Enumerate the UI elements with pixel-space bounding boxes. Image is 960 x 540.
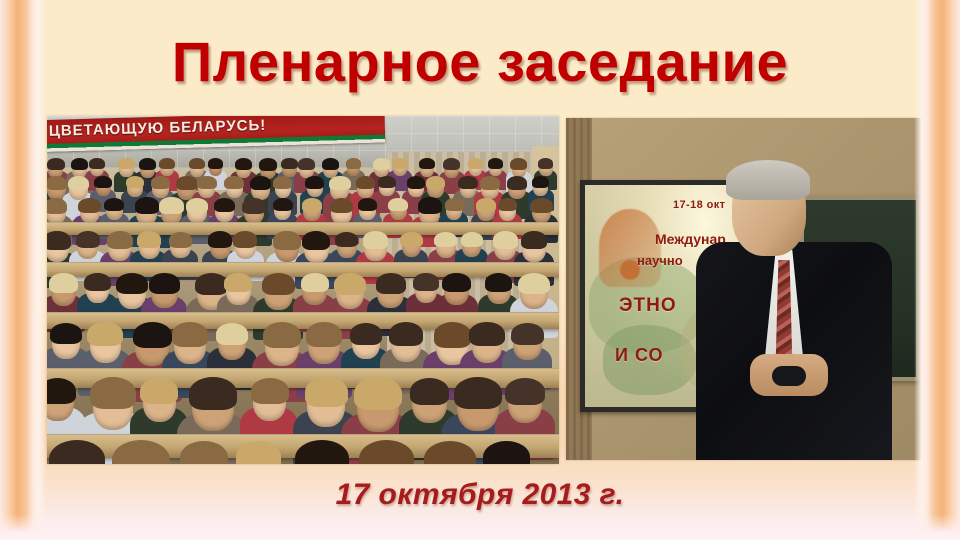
page-title: Пленарное заседание	[172, 34, 788, 90]
audience-person-hair	[224, 176, 243, 189]
audience-person-hair	[480, 176, 500, 190]
audience-person-hair	[208, 158, 223, 168]
audience-person-hair	[358, 198, 377, 211]
audience-person-hair	[250, 176, 272, 191]
audience-person-hair	[305, 377, 348, 406]
audience-person-hair	[172, 322, 209, 347]
audience-person-hair	[530, 198, 552, 213]
audience-person-hair	[521, 231, 548, 249]
audience-person-hair	[356, 176, 376, 189]
audience-person-hair	[47, 198, 67, 214]
audience-person-hair	[87, 322, 122, 346]
audience-person-hair	[47, 176, 67, 191]
audience-person-hair	[149, 273, 180, 294]
audience-person-hair	[335, 232, 358, 248]
audience-person-hair	[410, 378, 450, 405]
audience-person-hair	[373, 158, 390, 169]
audience-person-hair	[329, 176, 351, 191]
projection-line-3: ЭТНО	[619, 295, 677, 317]
audience-person-hair	[50, 323, 82, 345]
audience-person-hair	[126, 176, 144, 188]
audience-person-hair	[135, 197, 159, 213]
audience-person-hair	[47, 378, 76, 404]
audience-person-hair	[511, 323, 544, 345]
audience-person-hair	[407, 176, 425, 188]
audience-person-hair	[90, 377, 136, 409]
audience-person-hair	[159, 158, 175, 169]
audience-person-hair	[169, 232, 193, 248]
audience-person-hair	[376, 273, 407, 294]
audience-person-hair	[159, 197, 183, 214]
audience-person-hair	[363, 231, 389, 249]
audience-person-hair	[346, 158, 361, 168]
audience-person-hair	[186, 198, 208, 213]
audience-person-hair	[483, 441, 529, 464]
audience-person-hair	[273, 198, 293, 212]
audience-person-hair	[298, 158, 315, 170]
audience-person-hair	[305, 176, 323, 189]
projection-line-4: И СО	[615, 345, 664, 366]
audience-person-hair	[334, 273, 366, 295]
audience-person-hair	[350, 323, 382, 345]
audience-person-hair	[273, 231, 300, 250]
audience-person-hair	[89, 158, 105, 169]
audience-person-hair	[295, 440, 348, 464]
audience-person-hair	[78, 198, 101, 214]
audience-person-hair	[84, 273, 110, 291]
audience-person-hair	[505, 378, 545, 405]
audience-person-hair	[262, 273, 295, 295]
audience-person-hair	[94, 176, 111, 188]
audience-person-hair	[116, 273, 148, 295]
audience-person-hair	[49, 273, 78, 293]
audience-person-hair	[224, 273, 252, 292]
audience-person-hair	[485, 273, 512, 292]
audience-person-hair	[458, 176, 477, 189]
audience-person-hair	[330, 198, 353, 214]
date-area: 17 октября 2013 г.	[0, 472, 960, 518]
audience-person-hair	[493, 231, 518, 248]
audience-person-hair	[216, 323, 249, 345]
audience-person-hair	[104, 198, 124, 212]
audience-person-hair	[445, 198, 464, 211]
conference-emblem	[599, 209, 661, 287]
audience-person-hair	[176, 176, 197, 191]
audience-person-hair	[306, 322, 343, 347]
audience-person-hair	[378, 176, 396, 188]
audience-person-hair	[434, 322, 472, 348]
audience-person-hair	[235, 158, 252, 170]
audience-person-hair	[151, 176, 170, 189]
audience-person-hair	[137, 231, 161, 248]
audience-person-hair	[68, 176, 89, 191]
audience-person-hair	[273, 176, 292, 189]
speaker-hands	[750, 354, 828, 396]
audience-person-hair	[140, 378, 178, 404]
audience-person-hair	[47, 231, 71, 250]
photo-lecture-hall-audience: ЦВЕТАЮЩУЮ БЕЛАРУСЬ!	[47, 116, 559, 464]
audience-person-hair	[392, 158, 408, 169]
title-area: Пленарное заседание	[0, 26, 960, 98]
audience-person-hair	[469, 322, 504, 346]
audience-person-hair	[208, 231, 232, 247]
audience-person-hair	[454, 377, 501, 409]
audience-person-hair	[476, 198, 496, 212]
projection-line-2: научно	[637, 253, 683, 268]
audience-person-hair	[434, 232, 457, 248]
audience-person-hair	[76, 231, 100, 247]
audience-person-hair	[413, 273, 439, 291]
audience-person-hair	[400, 232, 422, 247]
audience-person-hair	[354, 377, 402, 410]
audience-person-hair	[461, 232, 483, 247]
audience-person-hair	[538, 158, 553, 168]
audience-person-hair	[442, 273, 470, 292]
audience-person-hair	[197, 176, 217, 189]
audience-person-hair	[189, 158, 205, 169]
audience-person-hair	[118, 158, 134, 169]
audience-person-hair	[139, 158, 156, 170]
audience-person-hair	[107, 231, 133, 249]
audience-person-hair	[498, 198, 518, 212]
audience-person-hair	[418, 197, 442, 213]
photo-conference-speaker: 17-18 окт Междунар научно ЭТНО И СО	[566, 118, 928, 460]
audience-person-hair	[214, 198, 235, 213]
audience-person-hair	[301, 273, 329, 292]
audience-person-hair	[426, 176, 445, 189]
audience-person-hair	[302, 198, 322, 212]
audience-person-hair	[388, 198, 408, 211]
audience-person-hair	[242, 198, 265, 214]
audience-person-hair	[251, 378, 289, 404]
audience-person-hair	[507, 176, 528, 190]
audience-person-hair	[518, 273, 550, 295]
audience-person-hair	[468, 158, 483, 168]
audience-person-hair	[47, 158, 65, 170]
audience-person-hair	[302, 231, 330, 250]
audience-person-hair	[510, 158, 527, 170]
audience-person-hair	[419, 158, 435, 169]
audience-person-hair	[263, 322, 302, 349]
audience-person-hair	[259, 158, 277, 171]
audience-person-hair	[236, 441, 281, 464]
audience-person-hair	[233, 231, 257, 247]
audience-person-hair	[281, 158, 297, 169]
audience-person-hair	[389, 322, 424, 346]
audience-person-hair	[488, 158, 503, 168]
speaker-hair	[726, 160, 810, 200]
presentation-slide: Пленарное заседание ЦВЕТАЮЩУЮ БЕЛАРУСЬ! …	[0, 0, 960, 540]
speaker-figure	[696, 164, 892, 460]
audience-person-hair	[71, 158, 88, 170]
audience-person-hair	[532, 176, 549, 188]
audience-person-hair	[133, 322, 172, 349]
audience-person-hair	[322, 158, 339, 170]
audience-person-hair	[443, 158, 460, 170]
slide-date: 17 октября 2013 г.	[336, 478, 625, 512]
audience-person-hair	[189, 377, 237, 410]
